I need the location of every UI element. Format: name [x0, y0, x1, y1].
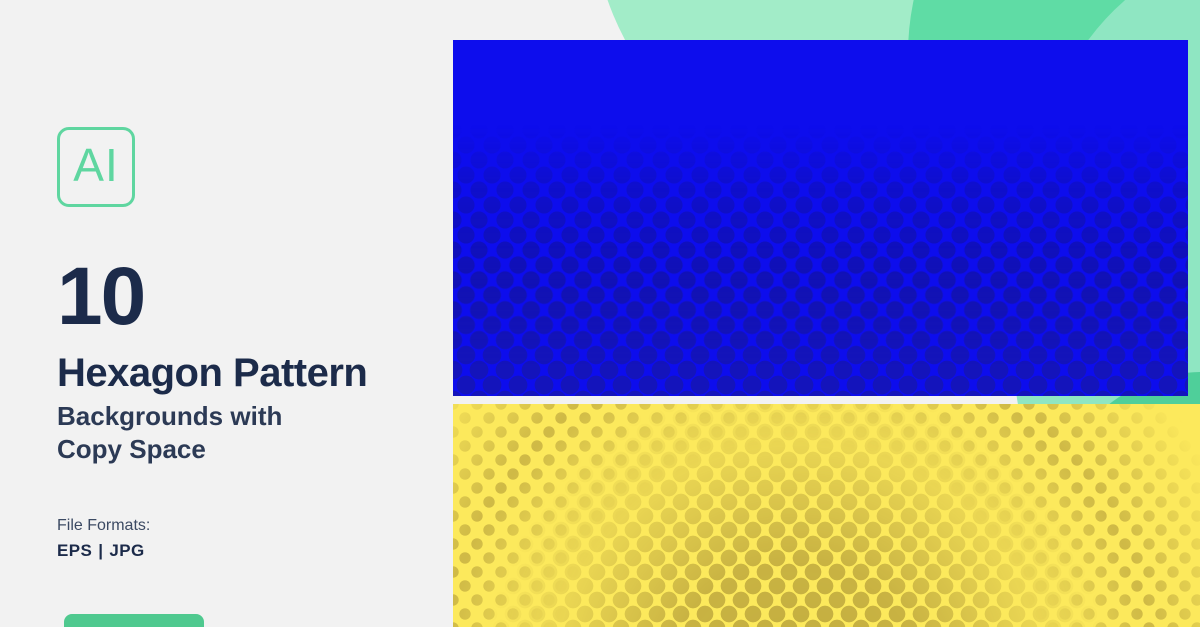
yellow-hexagon-preview[interactable]	[453, 404, 1200, 627]
page-title: Hexagon Pattern	[57, 352, 367, 394]
page-subtitle-line-1: Backgrounds with	[57, 400, 282, 433]
blue-hexagon-preview[interactable]	[453, 40, 1188, 396]
format-separator: |	[92, 541, 109, 560]
product-preview-poster: AI 10 Hexagon Pattern Backgrounds with C…	[0, 0, 1200, 627]
page-subtitle-line-2: Copy Space	[57, 433, 282, 466]
adobe-illustrator-badge-label: AI	[73, 142, 118, 188]
file-formats-label: File Formats:	[57, 517, 150, 535]
hexagon-halftone-pattern-dense	[453, 40, 1188, 396]
adobe-illustrator-badge: AI	[57, 127, 135, 207]
cta-button[interactable]	[64, 614, 204, 627]
page-subtitle: Backgrounds with Copy Space	[57, 400, 282, 467]
info-column: AI 10 Hexagon Pattern Backgrounds with C…	[0, 0, 440, 627]
format-eps: EPS	[57, 541, 92, 560]
format-jpg: JPG	[109, 541, 144, 560]
file-formats-value: EPS|JPG	[57, 541, 145, 561]
item-count: 10	[57, 258, 144, 336]
hexagon-halftone-pattern-core	[453, 404, 1200, 627]
